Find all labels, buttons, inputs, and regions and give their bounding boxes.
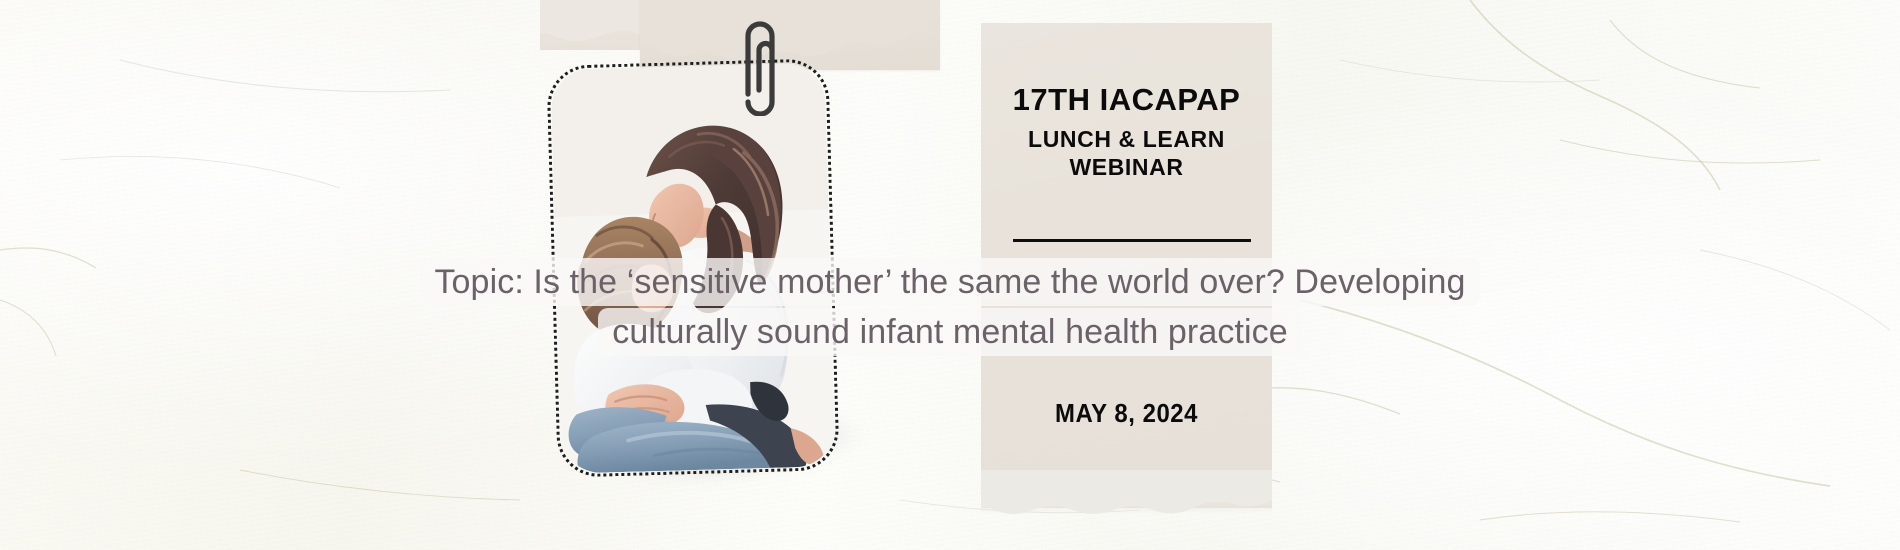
title-divider: [1013, 239, 1251, 242]
illustration-frame: [546, 58, 839, 478]
dotted-border: [546, 58, 839, 478]
webinar-title: 17TH IACAPAP: [981, 82, 1272, 118]
webinar-subtitle-line-2: WEBINAR: [981, 153, 1272, 181]
webinar-subtitle: LUNCH & LEARN WEBINAR: [981, 125, 1272, 182]
webinar-subtitle-line-1: LUNCH & LEARN: [981, 125, 1272, 153]
banner-canvas: 17TH IACAPAP LUNCH & LEARN WEBINAR MAY 8…: [0, 0, 1900, 550]
paperclip-icon: [728, 12, 792, 116]
event-date: MAY 8, 2024: [993, 398, 1261, 429]
panel-torn-edge: [981, 470, 1272, 514]
background-veins: [0, 0, 1900, 550]
